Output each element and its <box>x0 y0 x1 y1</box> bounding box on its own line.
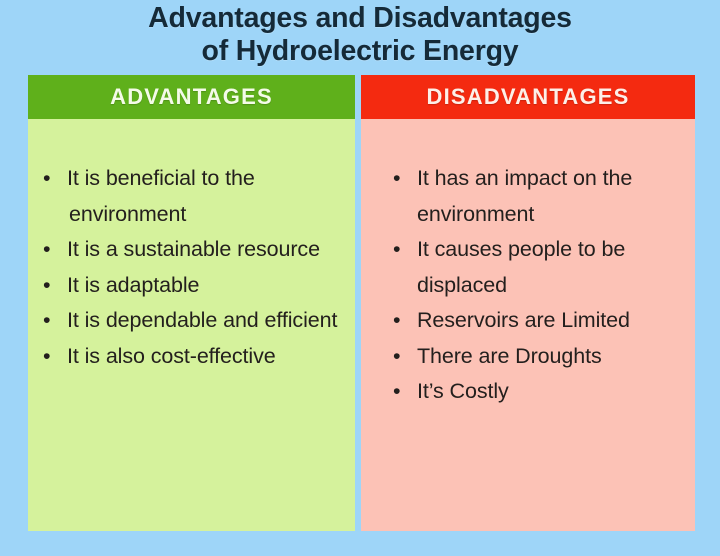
bullet-icon: • <box>43 232 67 268</box>
list-item: •It causes people to be displaced <box>393 232 685 303</box>
bullet-icon: • <box>393 374 417 410</box>
list-item: •It is dependable and efficient <box>43 303 345 339</box>
disadvantages-body: •It has an impact on the environment •It… <box>361 119 695 531</box>
list-item: •Reservoirs are Limited <box>393 303 685 339</box>
bullet-icon: • <box>393 339 417 375</box>
bullet-icon: • <box>393 232 417 268</box>
list-item: •It’s Costly <box>393 374 685 410</box>
infographic-poster: Advantages and Disadvantages of Hydroele… <box>0 0 720 556</box>
list-item-text: It has an impact on the environment <box>417 166 632 226</box>
page-title: Advantages and Disadvantages of Hydroele… <box>0 2 720 68</box>
list-item-text: There are Droughts <box>417 344 602 368</box>
disadvantages-header: DISADVANTAGES <box>361 75 695 119</box>
bullet-icon: • <box>393 161 417 197</box>
list-item: •It is beneficial to the environment <box>43 161 345 232</box>
list-item: •It is a sustainable resource <box>43 232 345 268</box>
bullet-icon: • <box>43 339 67 375</box>
list-item: •There are Droughts <box>393 339 685 375</box>
page-title-line-1: Advantages and Disadvantages <box>0 2 720 35</box>
list-item-text: It’s Costly <box>417 379 509 403</box>
disadvantages-list: •It has an impact on the environment •It… <box>361 161 695 410</box>
list-item-text: It is adaptable <box>67 273 199 297</box>
bullet-icon: • <box>43 303 67 339</box>
bullet-icon: • <box>43 268 67 304</box>
list-item: •It is adaptable <box>43 268 345 304</box>
list-item-text: It is beneficial to the environment <box>67 166 255 226</box>
disadvantages-column: DISADVANTAGES •It has an impact on the e… <box>361 75 695 531</box>
advantages-list: •It is beneficial to the environment •It… <box>28 161 355 374</box>
advantages-column: ADVANTAGES •It is beneficial to the envi… <box>28 75 355 531</box>
list-item: •It is also cost-effective <box>43 339 345 375</box>
advantages-header: ADVANTAGES <box>28 75 355 119</box>
page-title-line-2: of Hydroelectric Energy <box>0 35 720 68</box>
advantages-body: •It is beneficial to the environment •It… <box>28 119 355 531</box>
list-item-text: It is also cost-effective <box>67 344 276 368</box>
list-item-text: It causes people to be displaced <box>417 237 625 297</box>
comparison-columns: ADVANTAGES •It is beneficial to the envi… <box>28 75 695 531</box>
list-item-text: It is a sustainable resource <box>67 237 320 261</box>
bullet-icon: • <box>393 303 417 339</box>
bullet-icon: • <box>43 161 67 197</box>
list-item: •It has an impact on the environment <box>393 161 685 232</box>
list-item-text: Reservoirs are Limited <box>417 308 630 332</box>
list-item-text: It is dependable and efficient <box>67 308 337 332</box>
